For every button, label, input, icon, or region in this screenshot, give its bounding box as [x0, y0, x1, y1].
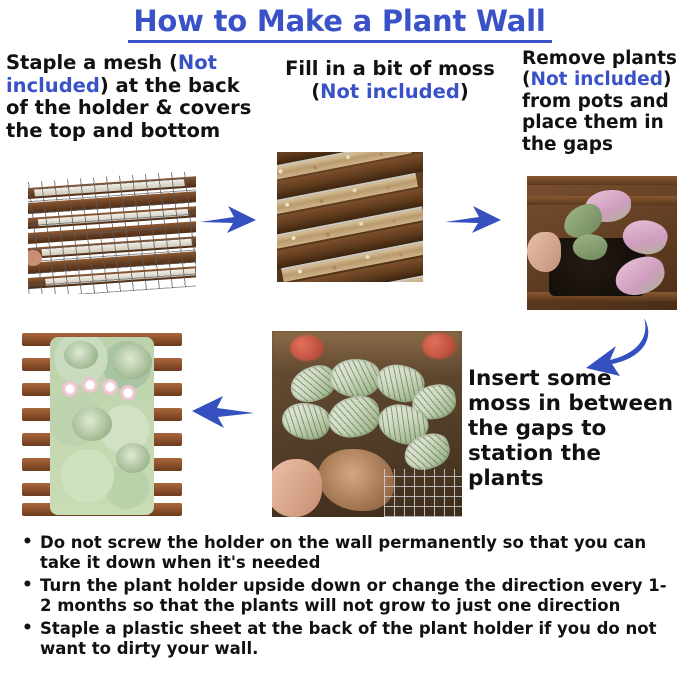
step-1-text-a: Staple a mesh ( [6, 51, 178, 74]
succulent [72, 407, 112, 441]
step-1-not: Not [178, 51, 217, 74]
slats-with-moss [277, 152, 423, 282]
moss-clump [318, 449, 394, 511]
placing-plants-photo [527, 176, 677, 310]
arrow-step2-to-step3 [443, 200, 505, 240]
step-2-not-included: Not included [320, 80, 460, 103]
step-2-caption: Fill in a bit of moss (Not included) [274, 58, 506, 103]
title-underline [128, 40, 552, 43]
step-1-included: included [6, 74, 100, 97]
finished-plant-wall-photo [16, 327, 182, 517]
succulent [116, 443, 150, 473]
tip-item: Staple a plastic sheet at the back of th… [40, 619, 668, 660]
fingers [527, 232, 561, 272]
tips-list: Do not screw the holder on the wall perm… [18, 533, 668, 662]
mesh-on-wooden-holder-photo [28, 172, 196, 294]
fittonia-leaf [325, 393, 383, 441]
flower [82, 377, 98, 393]
wooden-frame [20, 331, 178, 513]
step-1-caption: Staple a mesh (Not included) at the back… [6, 52, 264, 142]
tip-item: Turn the plant holder upside down or cha… [40, 576, 668, 617]
step-3-caption: Remove plants (Not included) from pots a… [522, 48, 678, 155]
wire-mesh [384, 469, 462, 517]
blurred-pot [290, 335, 324, 361]
moss-in-slat-gaps-photo [277, 152, 423, 282]
page-title: How to Make a Plant Wall [0, 4, 679, 38]
flower [102, 379, 118, 395]
flower [62, 381, 78, 397]
step-3-not-included: Not included [530, 69, 663, 90]
arrow-step1-to-step2 [198, 200, 260, 240]
arrow-step4-to-finished-wall [188, 390, 258, 432]
wire-mesh-overlay [28, 172, 196, 294]
succulent [112, 345, 152, 379]
flower [120, 385, 136, 401]
step-4-caption: Insert some moss in between the gaps to … [468, 367, 679, 492]
step-2-text-b: ) [460, 80, 469, 103]
hand [272, 459, 322, 517]
blurred-pot [422, 333, 456, 359]
tip-item: Do not screw the holder on the wall perm… [40, 533, 668, 574]
fittonia-leaf [278, 398, 333, 445]
succulent [64, 341, 98, 369]
infographic-page: How to Make a Plant Wall Staple a mesh (… [0, 0, 679, 680]
inserting-moss-photo [272, 331, 462, 517]
